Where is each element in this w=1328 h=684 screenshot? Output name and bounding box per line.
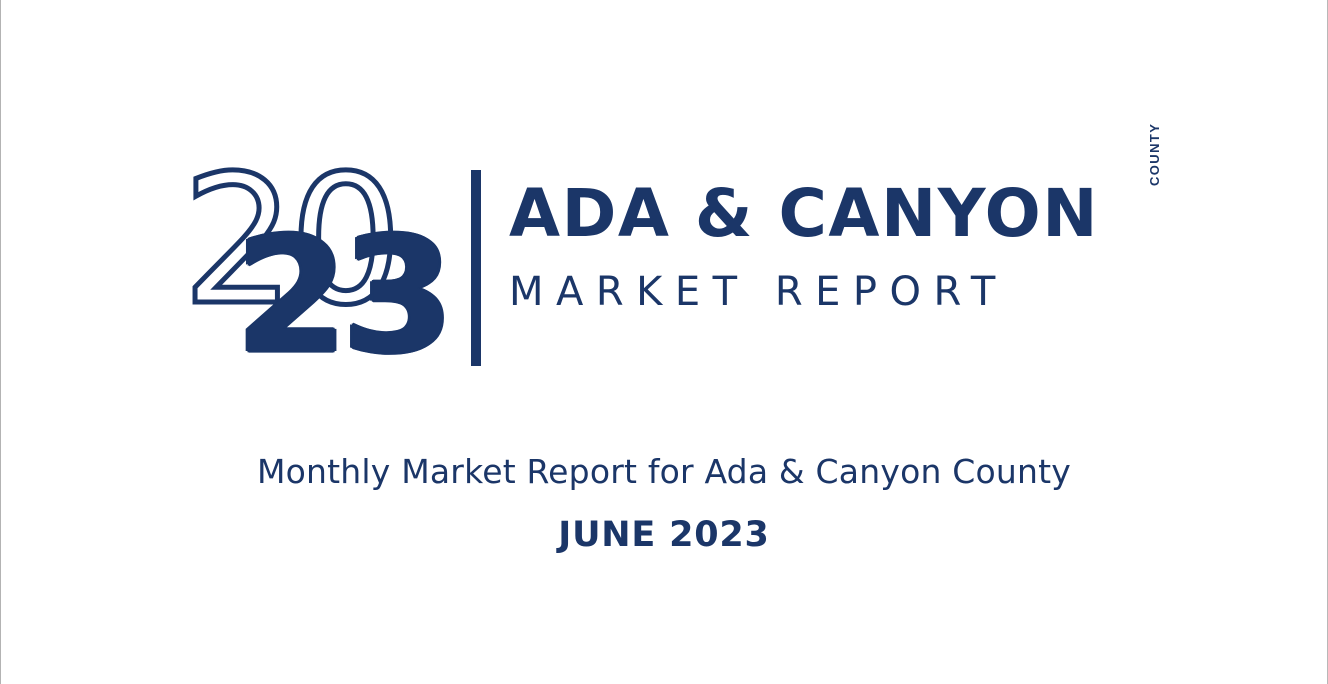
cover-title-block: Monthly Market Report for Ada & Canyon C…: [1, 452, 1327, 556]
wordmark-county-vertical: COUNTY: [1147, 123, 1162, 186]
report-date: JUNE 2023: [1, 514, 1327, 556]
report-subtitle: Monthly Market Report for Ada & Canyon C…: [1, 452, 1327, 492]
wordmark-market-report: MARKET REPORT: [509, 269, 1159, 315]
report-cover-page: 20 23 ADA & CANYON COUNTY MARKET REPORT …: [0, 0, 1328, 684]
year-mark-2023: 20 23: [174, 150, 474, 380]
wordmark-primary-row: ADA & CANYON COUNTY: [509, 180, 1159, 249]
logo-divider-rule: [471, 170, 481, 366]
wordmark-ada-canyon: ADA & CANYON: [509, 180, 1099, 249]
logo-inner-wrapper: 20 23 ADA & CANYON COUNTY MARKET REPORT: [164, 150, 1164, 380]
year-solid-23: 23: [236, 216, 449, 376]
brand-wordmark: ADA & CANYON COUNTY MARKET REPORT: [509, 180, 1159, 315]
brand-logo-lockup: 20 23 ADA & CANYON COUNTY MARKET REPORT: [1, 150, 1327, 380]
